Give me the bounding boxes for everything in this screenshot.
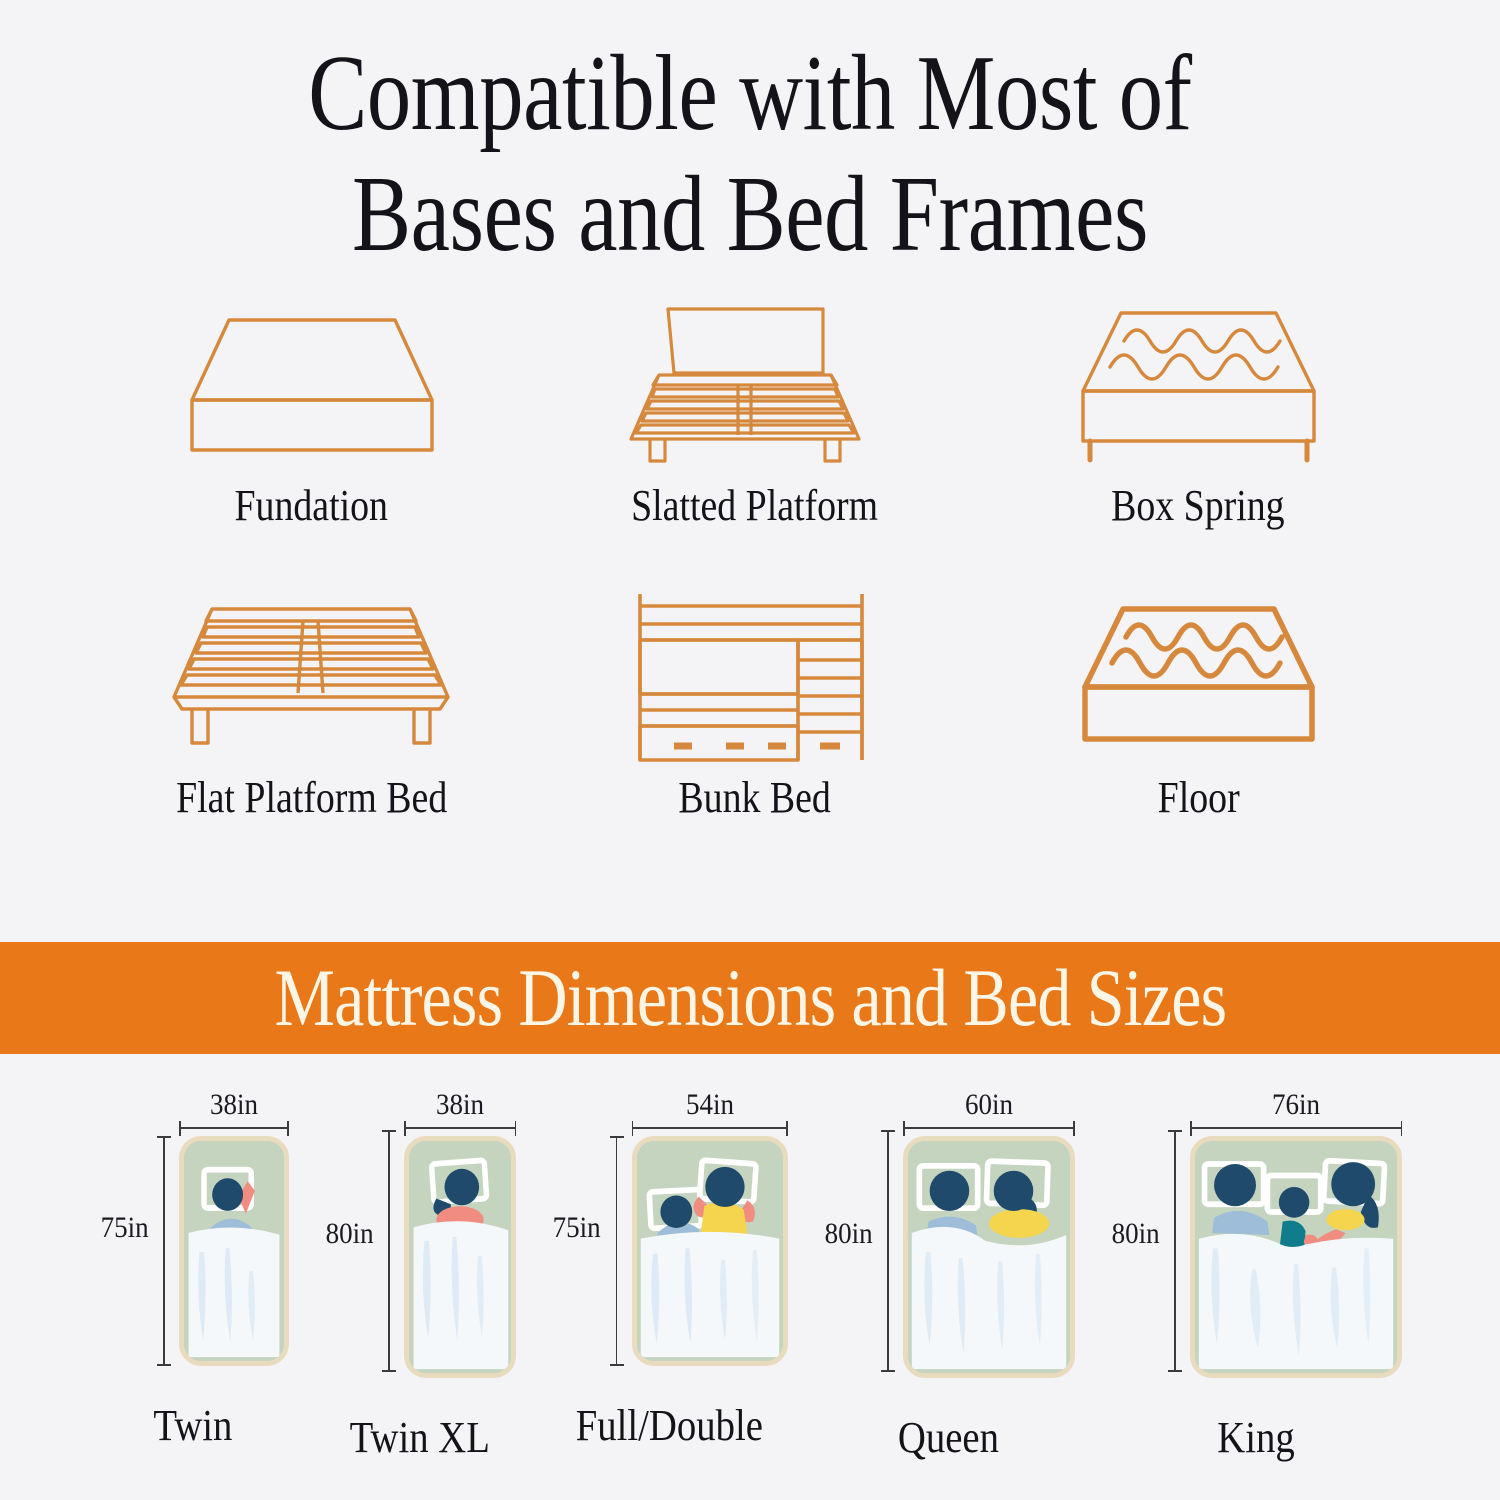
bed-size-twin-xl: 80in 38in xyxy=(323,1090,516,1463)
bed-size-queen: 80in 60in xyxy=(822,1090,1075,1463)
base-item-bunk-bed: Bunk Bed xyxy=(533,592,976,842)
twin-xl-bed-illustration xyxy=(404,1136,516,1378)
base-label-slatted-platform: Slatted Platform xyxy=(631,480,878,531)
twin-width-dimension-line: 38in xyxy=(179,1090,289,1136)
page-title: Compatible with Most of Bases and Bed Fr… xyxy=(0,34,1500,276)
king-bed-illustration xyxy=(1190,1136,1402,1378)
infographic-page: Compatible with Most of Bases and Bed Fr… xyxy=(0,0,1500,1500)
twin-bed-illustration xyxy=(179,1136,289,1366)
foundation-icon xyxy=(177,300,447,470)
twin-height-dimension-line xyxy=(157,1136,171,1366)
full-width-label: 54in xyxy=(639,1088,779,1122)
slatted-platform-icon xyxy=(625,300,885,470)
page-title-line-1: Compatible with Most of xyxy=(135,34,1365,155)
queen-bed-illustration xyxy=(903,1136,1075,1378)
full-height-label: 75in xyxy=(553,1211,601,1245)
base-label-flat-platform-bed: Flat Platform Bed xyxy=(176,772,447,823)
bunk-bed-icon xyxy=(630,592,880,762)
base-item-flat-platform-bed: Flat Platform Bed xyxy=(90,592,533,842)
twin-height-label: 75in xyxy=(100,1211,148,1245)
bed-size-name-full-double: Full/Double xyxy=(575,1400,762,1451)
bed-size-name-king: King xyxy=(1217,1412,1294,1463)
base-label-bunk-bed: Bunk Bed xyxy=(679,772,831,823)
king-width-dimension-line: 76in xyxy=(1190,1090,1402,1136)
base-label-box-spring: Box Spring xyxy=(1112,480,1285,531)
king-height-label: 80in xyxy=(1112,1217,1160,1251)
compatible-bases-grid: Fundation xyxy=(90,300,1420,842)
queen-width-dimension-line: 60in xyxy=(903,1090,1075,1136)
bed-size-name-twin: Twin xyxy=(154,1400,233,1451)
bed-size-name-queen: Queen xyxy=(898,1412,999,1463)
king-width-label: 76in xyxy=(1201,1088,1392,1122)
floor-icon xyxy=(1066,592,1331,762)
king-height-dimension-line xyxy=(1168,1130,1182,1372)
bed-sizes-row: 75in 38in xyxy=(0,1090,1500,1490)
flat-platform-bed-icon xyxy=(162,592,462,762)
base-item-box-spring: Box Spring xyxy=(977,300,1420,550)
twin-xl-height-label: 80in xyxy=(326,1217,374,1251)
queen-height-dimension-line xyxy=(881,1130,895,1372)
twin-xl-width-label: 38in xyxy=(410,1088,511,1122)
base-item-slatted-platform: Slatted Platform xyxy=(533,300,976,550)
twin-xl-width-dimension-line: 38in xyxy=(404,1090,516,1136)
page-title-line-2: Bases and Bed Frames xyxy=(135,155,1365,276)
full-width-dimension-line: 54in xyxy=(632,1090,788,1136)
full-double-bed-illustration xyxy=(632,1136,788,1366)
twin-xl-height-dimension-line xyxy=(382,1130,396,1372)
bed-size-king: 80in 76in xyxy=(1109,1090,1402,1463)
queen-width-label: 60in xyxy=(912,1088,1067,1122)
base-label-floor: Floor xyxy=(1157,772,1239,823)
bed-size-full-double: 75in 54in xyxy=(550,1090,787,1451)
twin-width-label: 38in xyxy=(184,1088,283,1122)
base-label-foundation: Fundation xyxy=(235,480,388,531)
bed-size-name-twin-xl: Twin XL xyxy=(349,1412,489,1463)
full-height-dimension-line xyxy=(610,1136,624,1366)
queen-height-label: 80in xyxy=(824,1217,872,1251)
base-item-floor: Floor xyxy=(977,592,1420,842)
section-banner: Mattress Dimensions and Bed Sizes xyxy=(0,942,1500,1054)
banner-title: Mattress Dimensions and Bed Sizes xyxy=(274,951,1226,1045)
base-item-foundation: Fundation xyxy=(90,300,533,550)
box-spring-icon xyxy=(1066,300,1331,470)
bed-size-twin: 75in 38in xyxy=(98,1090,289,1451)
